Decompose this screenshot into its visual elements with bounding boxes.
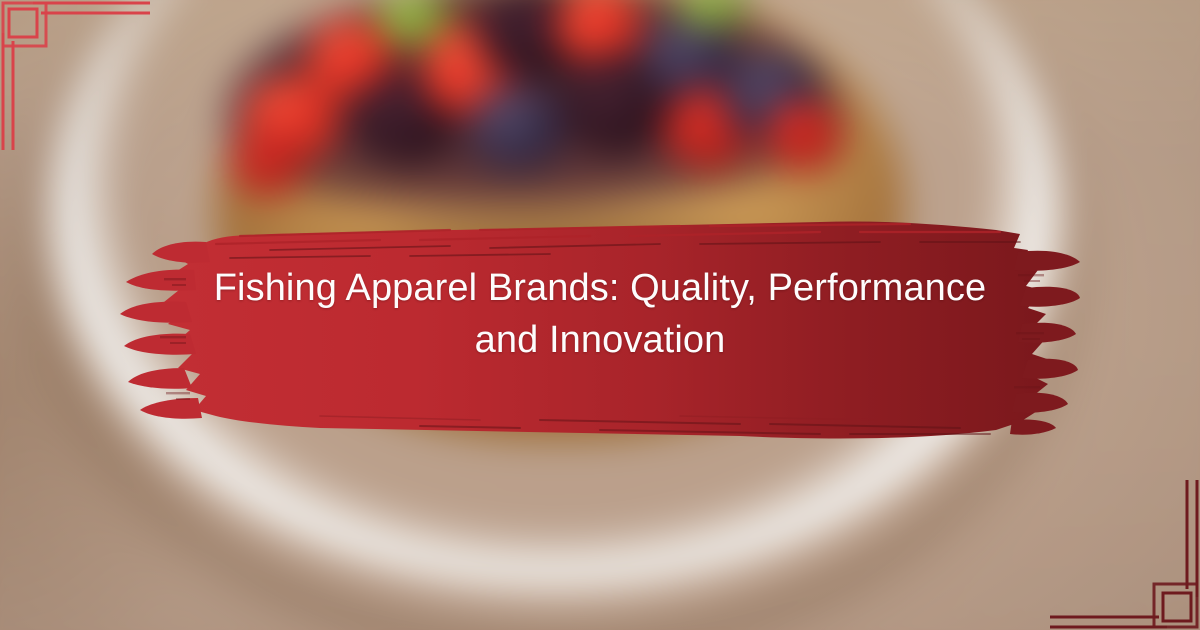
share-card: Fishing Apparel Brands: Quality, Perform… [0, 0, 1200, 630]
corner-ornament-top-left-icon [0, 0, 150, 150]
page-title: Fishing Apparel Brands: Quality, Perform… [206, 262, 994, 366]
title-banner: Fishing Apparel Brands: Quality, Perform… [120, 178, 1080, 450]
title-block: Fishing Apparel Brands: Quality, Perform… [120, 178, 1080, 450]
corner-ornament-bottom-right-icon [1050, 480, 1200, 630]
